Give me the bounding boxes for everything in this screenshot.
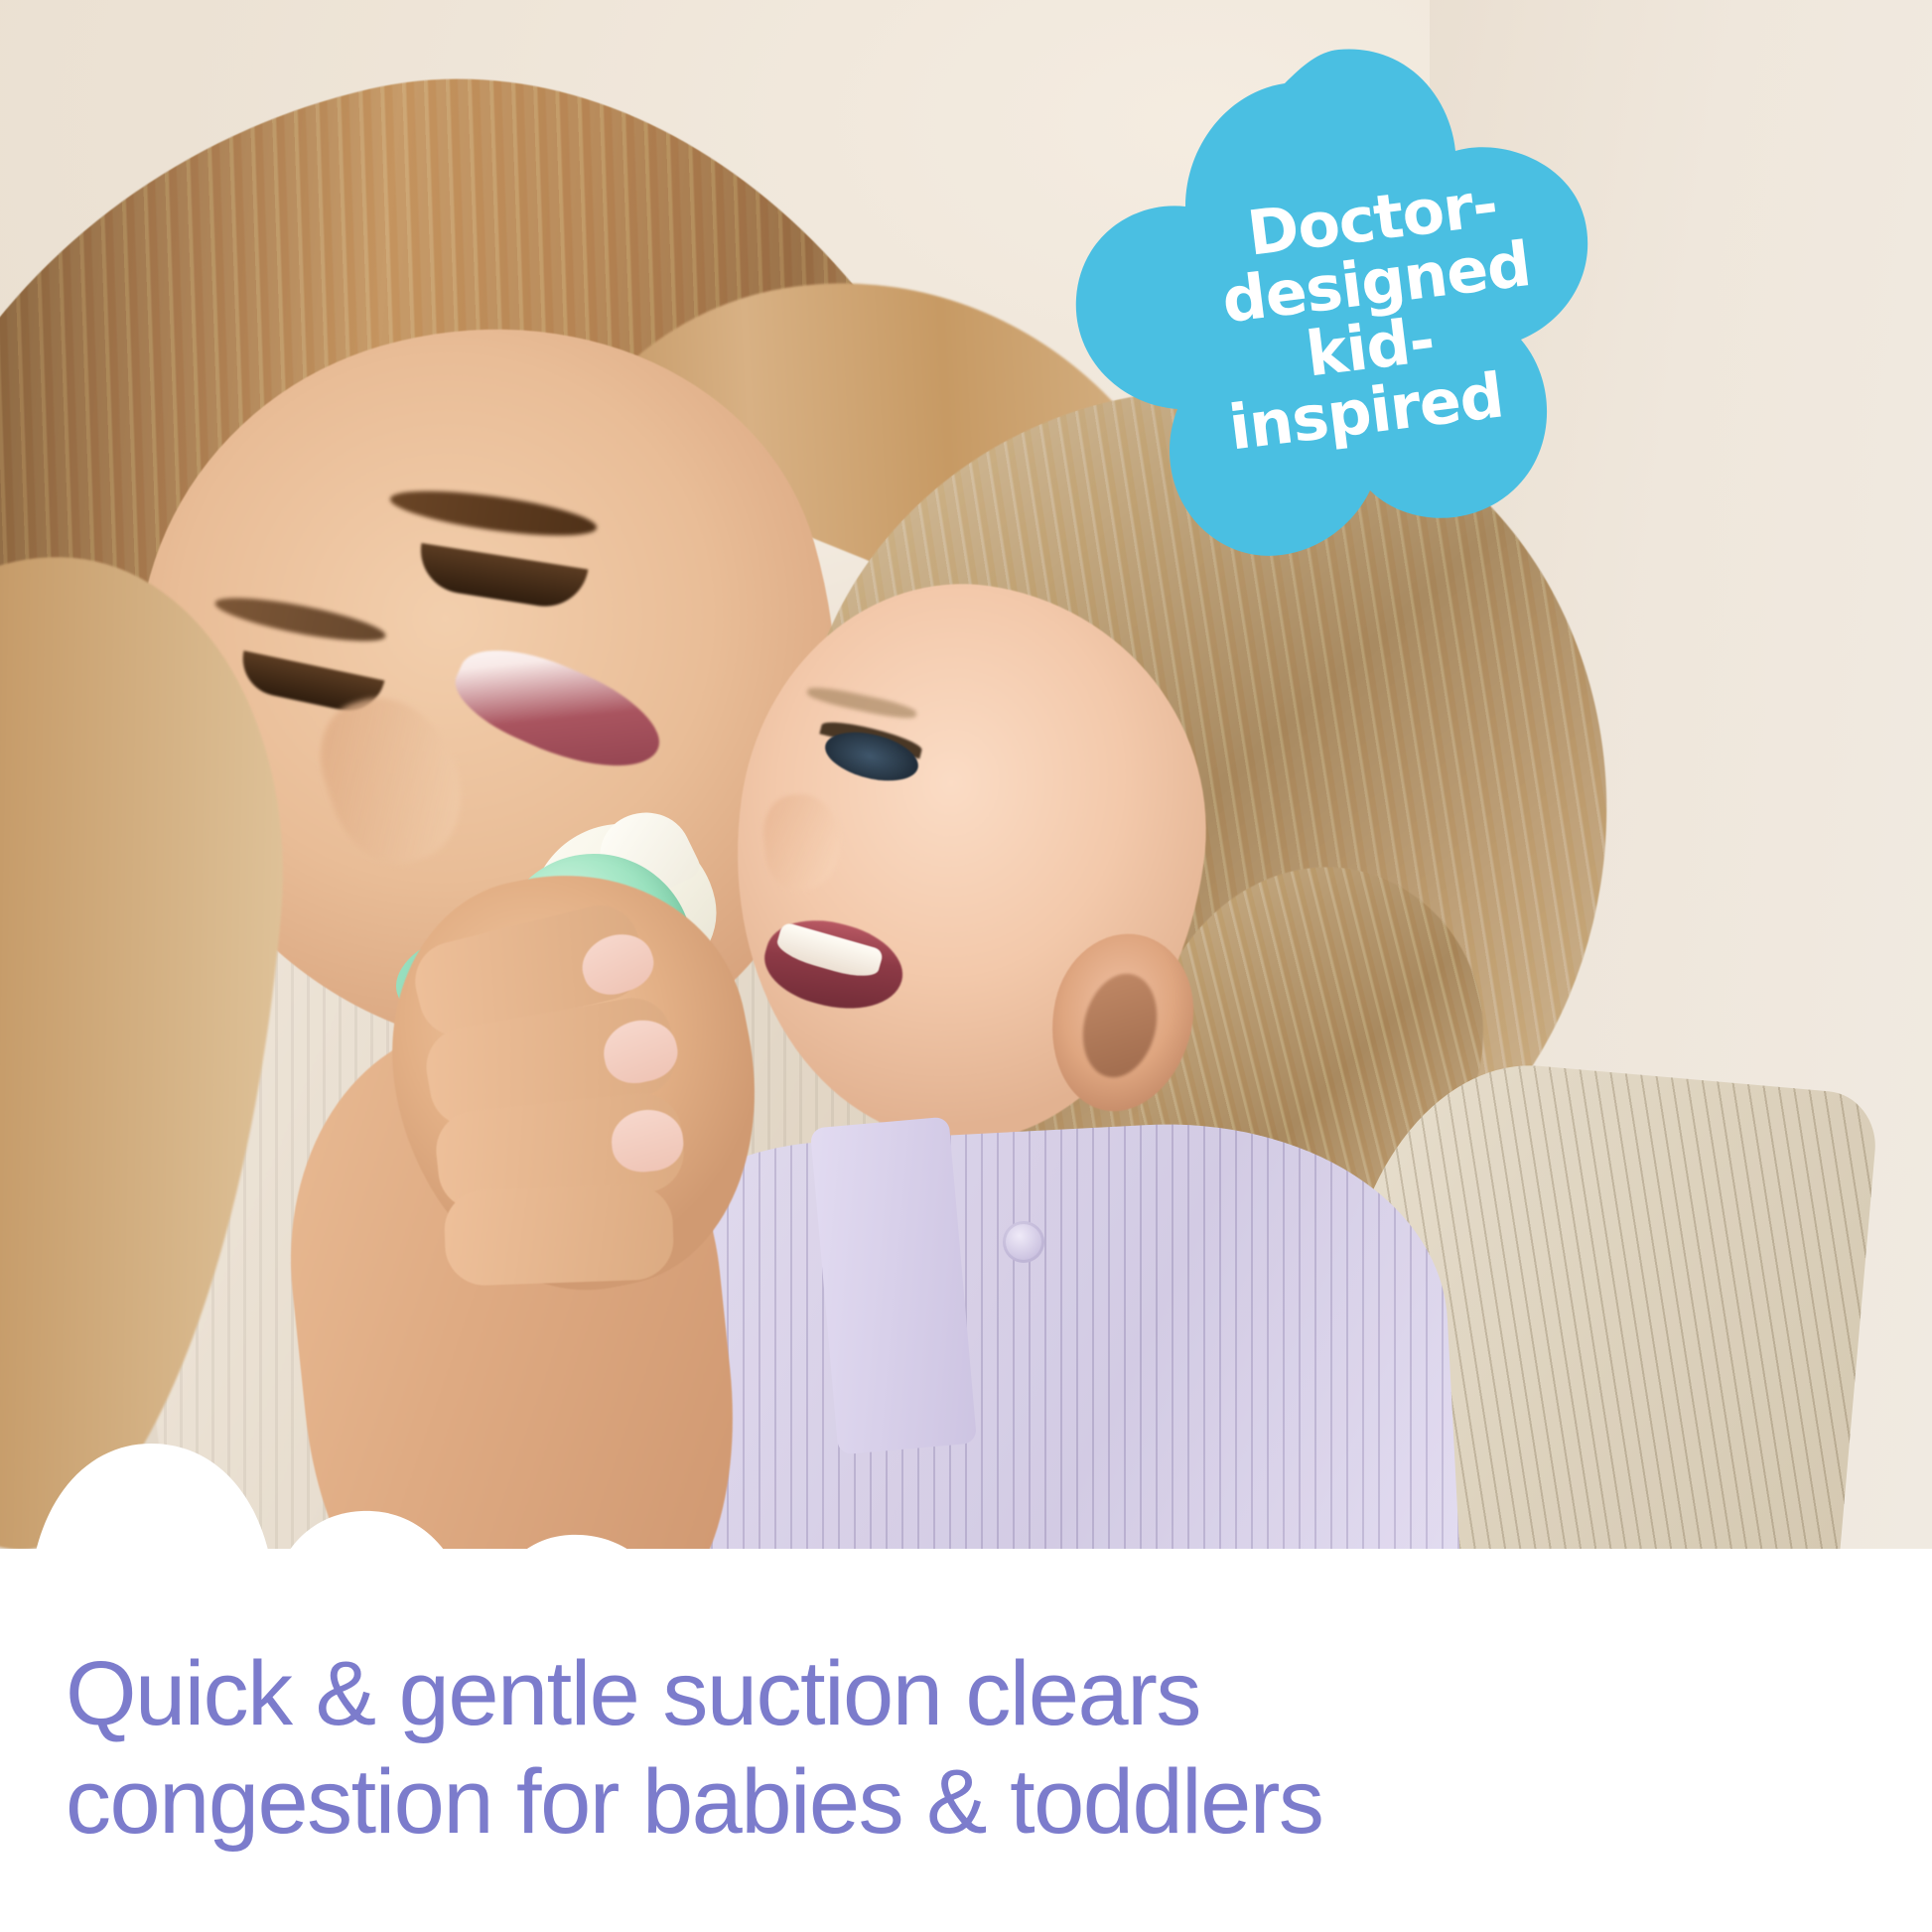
doctor-designed-badge: Doctor- designed kid- inspired — [1054, 42, 1610, 598]
caption-text: Quick & gentle suction clears congestion… — [66, 1640, 1853, 1856]
marketing-image: Doctor- designed kid- inspired Quick & g… — [0, 0, 1932, 1932]
badge-flower-shape — [1054, 42, 1610, 598]
mother-finger-4 — [443, 1183, 674, 1287]
caption-line-1: Quick & gentle suction clears — [66, 1640, 1853, 1748]
caption-line-2: congestion for babies & toddlers — [66, 1748, 1853, 1857]
toddler-shirt-button — [1003, 1221, 1044, 1263]
toddler-shirt-placket — [810, 1117, 977, 1455]
hero-photo — [0, 0, 1932, 1549]
